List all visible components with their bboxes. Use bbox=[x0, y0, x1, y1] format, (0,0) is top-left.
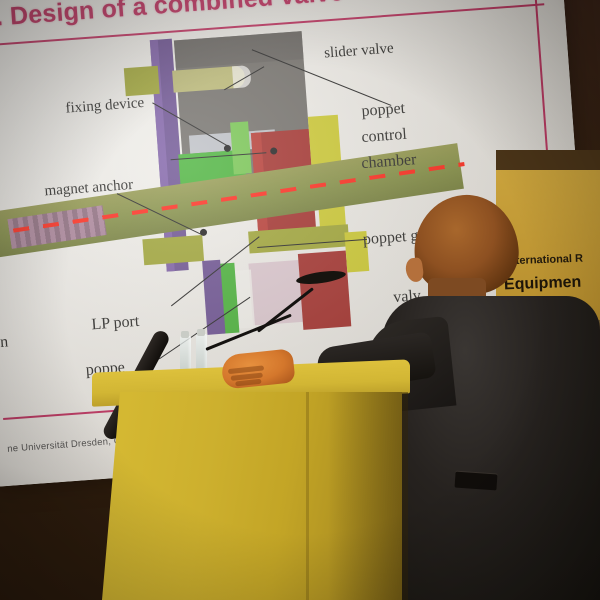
banner-line-2: Equipmen bbox=[504, 274, 582, 295]
speaker-jacket-pocket bbox=[454, 472, 497, 491]
label-expansion-cut: sion bbox=[0, 333, 9, 353]
podium-shading bbox=[328, 392, 408, 600]
bottle-cap-1 bbox=[181, 331, 189, 338]
label-lp-port: LP port bbox=[91, 313, 140, 334]
podium bbox=[92, 366, 410, 600]
label-poppet: poppet bbox=[361, 100, 406, 121]
bottle-cap-2 bbox=[197, 329, 205, 336]
label-control: control bbox=[361, 126, 408, 147]
presentation-photo: 3. Design of a combined valve Equipme ve… bbox=[0, 0, 600, 600]
podium-corner-edge bbox=[306, 392, 309, 600]
